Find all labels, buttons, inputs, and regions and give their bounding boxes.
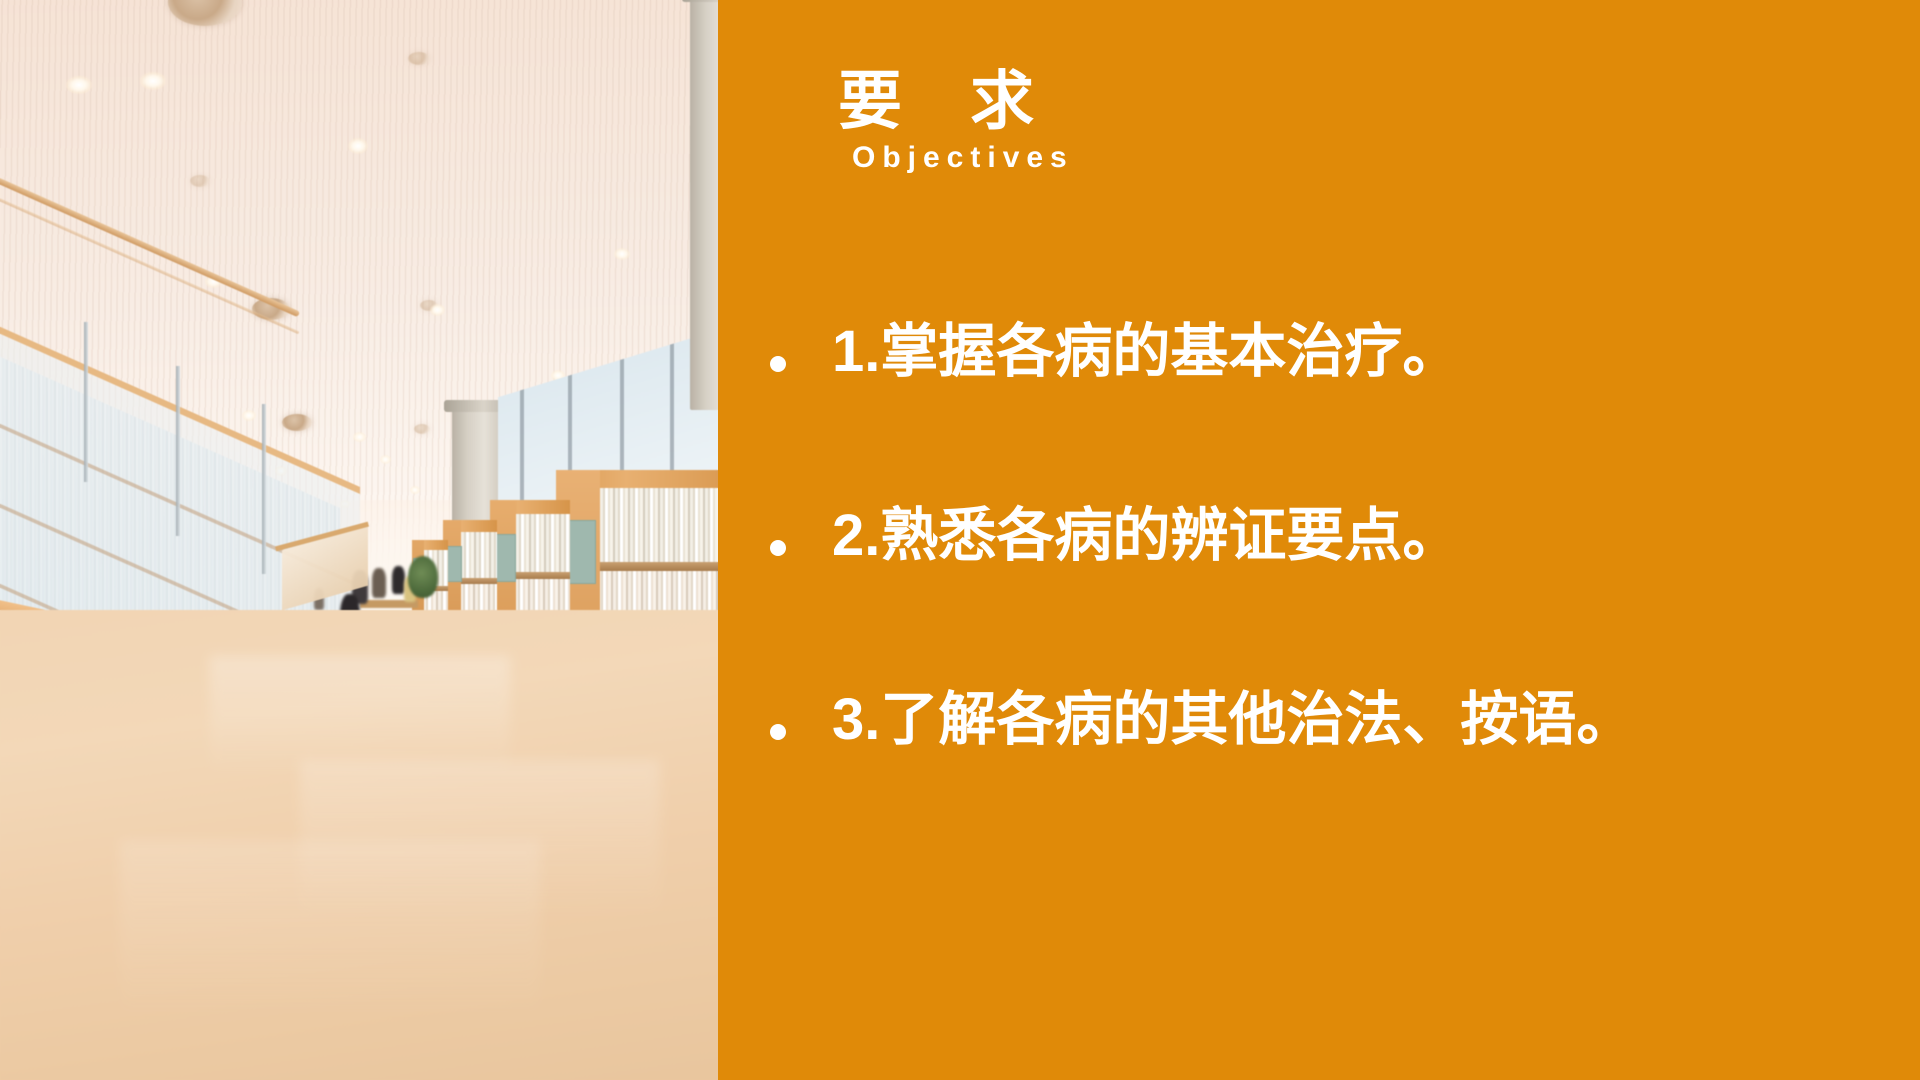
content-panel: 要 求 Objectives 1.掌握各病的基本治疗。 2.熟悉各病的辨证要点。… [718, 0, 1920, 1080]
downlight-icon [353, 432, 366, 442]
slide-heading: 要 求 Objectives [838, 68, 1074, 175]
list-item-label: 3.了解各病的其他治法、按语。 [832, 686, 1634, 754]
rail-post [84, 322, 88, 482]
list-item-label: 1.掌握各病的基本治疗。 [832, 318, 1460, 386]
rail-post [262, 404, 266, 574]
bullet-dot-icon [770, 540, 786, 556]
person-silhouette [372, 568, 386, 598]
downlight-icon [348, 138, 368, 154]
list-item-label: 2.熟悉各病的辨证要点。 [832, 502, 1460, 570]
downlight-icon [380, 455, 391, 464]
floor [0, 610, 718, 1080]
downlight-icon [140, 72, 166, 90]
downlight-icon [66, 76, 92, 94]
ceiling-vent-icon [408, 52, 430, 65]
concrete-column [690, 0, 718, 410]
bullet-dot-icon [770, 724, 786, 740]
downlight-icon [410, 486, 420, 494]
ceiling-vent-icon [282, 414, 312, 431]
library-photo [0, 0, 718, 1080]
downlight-icon [614, 248, 630, 260]
list-item: 2.熟悉各病的辨证要点。 [748, 502, 1920, 686]
page-title: 要 求 [838, 68, 1074, 135]
list-item: 3.了解各病的其他治法、按语。 [748, 686, 1920, 870]
downlight-icon [430, 304, 445, 316]
objectives-list: 1.掌握各病的基本治疗。 2.熟悉各病的辨证要点。 3.了解各病的其他治法、按语… [748, 318, 1920, 870]
presentation-slide: 要 求 Objectives 1.掌握各病的基本治疗。 2.熟悉各病的辨证要点。… [0, 0, 1920, 1080]
ceiling-vent-icon [190, 175, 210, 187]
downlight-icon [242, 410, 256, 421]
page-subtitle: Objectives [852, 141, 1074, 175]
bullet-dot-icon [770, 356, 786, 372]
potted-plant [408, 556, 438, 598]
rail-post [176, 366, 180, 536]
ceiling-vent-icon [414, 424, 430, 434]
list-item: 1.掌握各病的基本治疗。 [748, 318, 1920, 502]
